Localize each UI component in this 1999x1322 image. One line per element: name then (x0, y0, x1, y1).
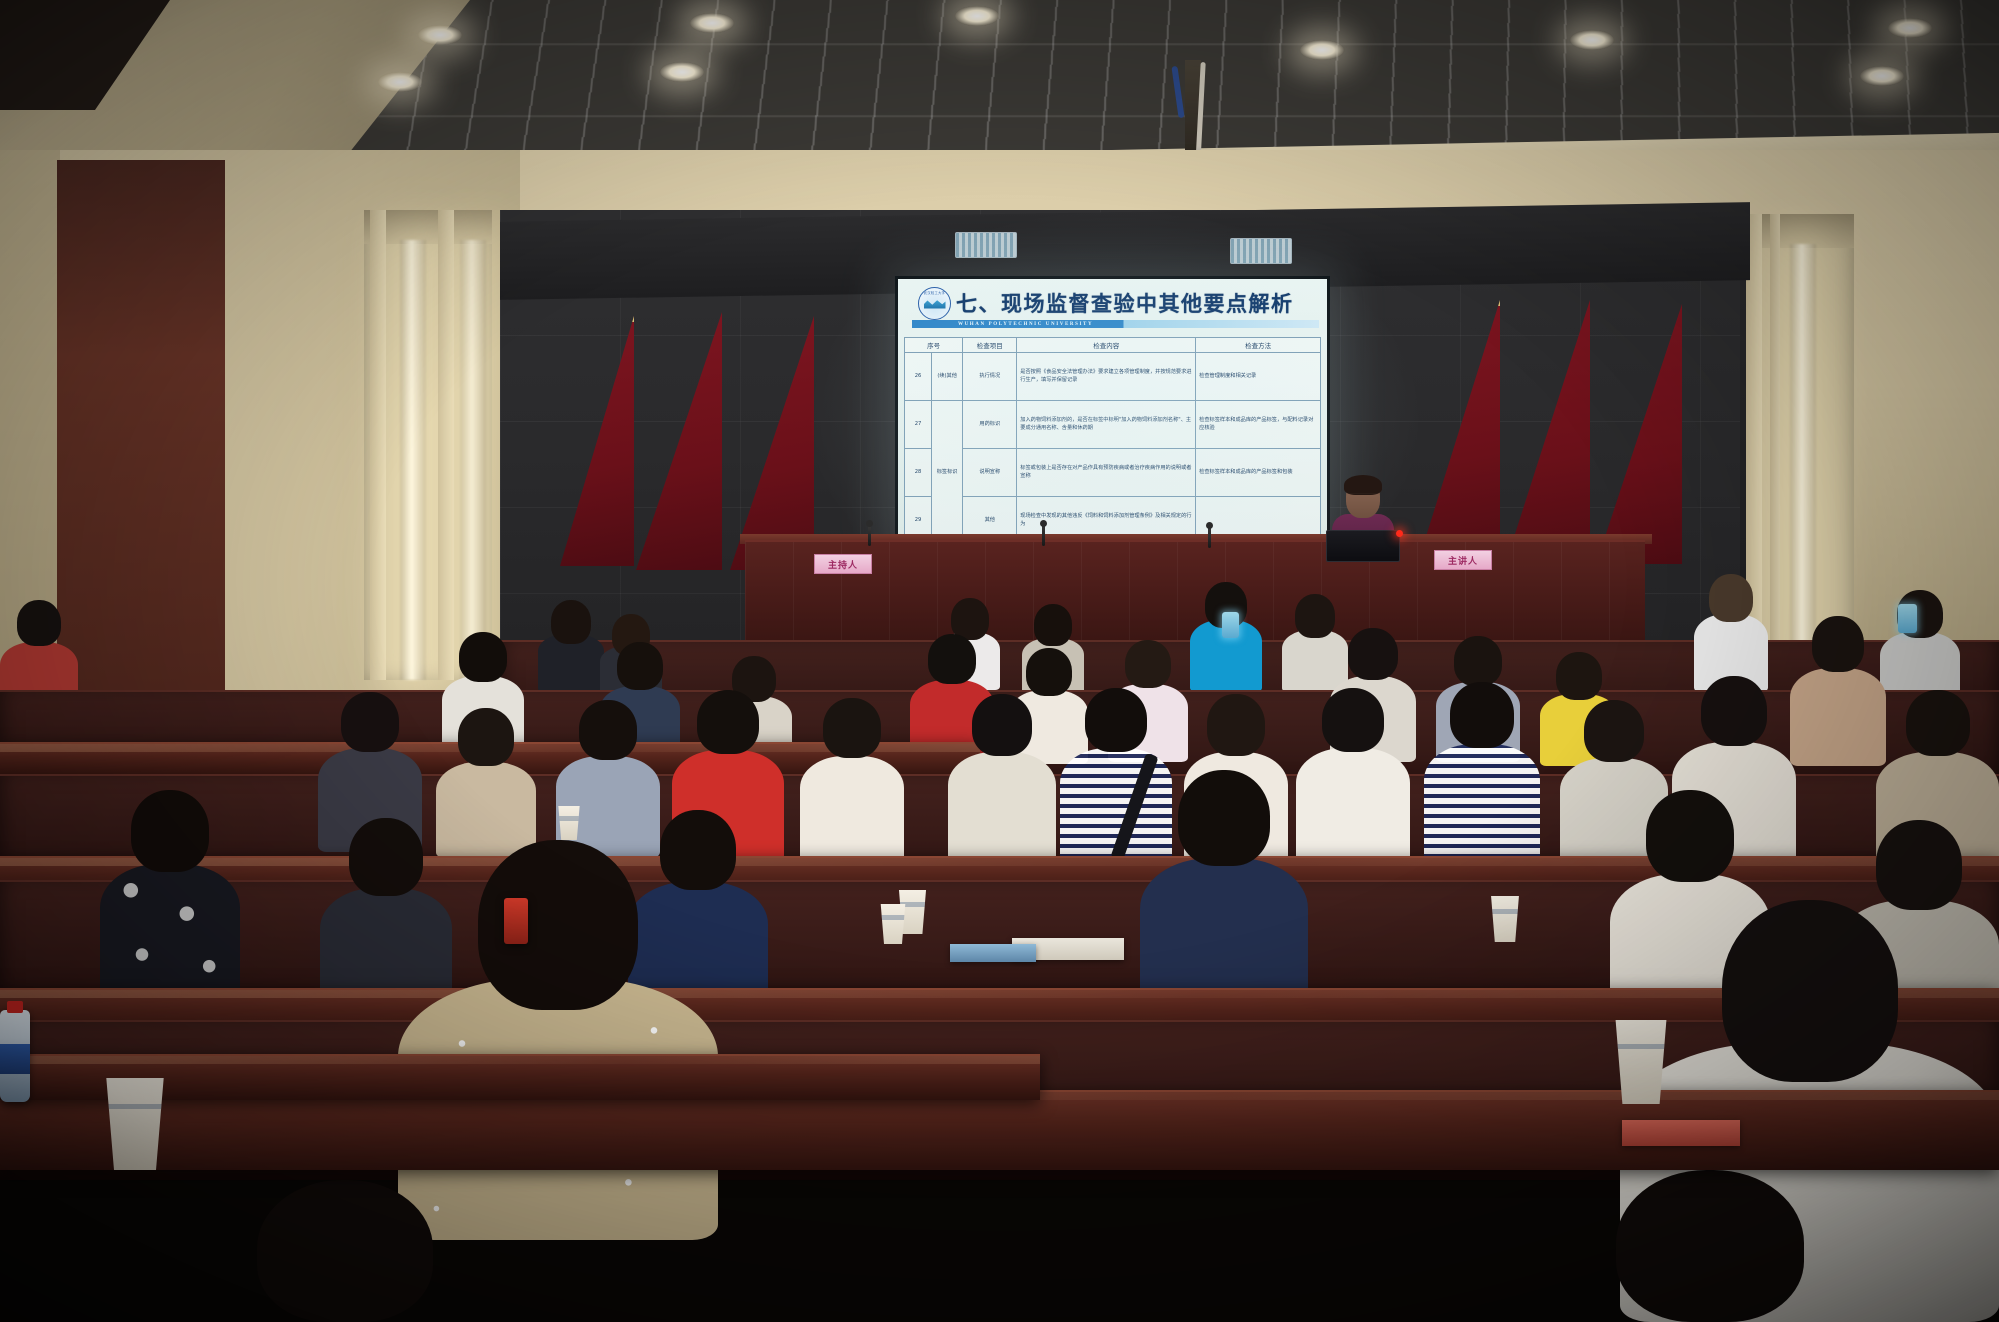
ceiling-downlight (1860, 66, 1904, 86)
audience-member (948, 694, 1056, 862)
smartphone (1898, 604, 1917, 633)
person-head (459, 632, 507, 682)
wall-alcove-left (364, 210, 492, 680)
ceiling-downlight (955, 6, 999, 26)
audience-member (100, 790, 240, 1010)
cell-item: 用药标识 (963, 401, 1017, 449)
inspection-table: 序号 检查项目 检查内容 检查方法 26 (续)其他 执行情况 是否按照《食品安… (904, 337, 1321, 545)
ceiling-downlight (378, 72, 422, 92)
bottle-cap (7, 1001, 23, 1013)
alcove-light-strip (460, 240, 486, 680)
logo-ring-text: 武汉轻工大学 (919, 290, 950, 295)
th-no: 序号 (905, 338, 963, 353)
cell-group: 标签标识 (932, 401, 963, 545)
alcove-rib (370, 210, 386, 680)
smartphone (1222, 612, 1239, 638)
presentation-slide: 武汉轻工大学 七、现场监督查验中其他要点解析 WUHAN POLYTECHNIC… (898, 279, 1327, 550)
cell-item: 说明宣称 (963, 449, 1017, 497)
water-bottle-foreground (0, 1010, 30, 1102)
person-head (1295, 594, 1335, 638)
cell-no: 27 (905, 401, 932, 449)
audience-member (210, 1180, 480, 1322)
person-head (257, 1180, 433, 1322)
microphone (1208, 526, 1211, 548)
audience-member (1424, 682, 1540, 864)
person-head (697, 690, 759, 754)
table-row: 28 说明宣称 标签或包装上是否存在对产品作具有预防疾病或者治疗疾病作用的说明或… (905, 449, 1321, 497)
slide-title: 七、现场监督查验中其他要点解析 (956, 288, 1317, 318)
person-head (1709, 574, 1753, 622)
person-head (341, 692, 399, 752)
person-head (458, 708, 514, 766)
person-head (1701, 676, 1767, 746)
microphone (868, 524, 871, 546)
person-head (579, 700, 637, 760)
ceiling-downlight (1300, 40, 1344, 60)
person-head (1646, 790, 1734, 882)
bottle-label (0, 1044, 30, 1074)
conference-hall-photo: 武汉轻工大学 七、现场监督查验中其他要点解析 WUHAN POLYTECHNIC… (0, 0, 1999, 1322)
placard-host: 主持人 (814, 554, 872, 574)
person-head (972, 694, 1032, 756)
person-head (1616, 1170, 1804, 1322)
cell-no: 26 (905, 353, 932, 401)
audience-member (800, 698, 904, 862)
cell-content: 标签或包装上是否存在对产品作具有预防疾病或者治疗疾病作用的说明或者宣称 (1017, 449, 1196, 497)
person-head (1584, 700, 1644, 762)
equipment-indicator-light (1396, 530, 1403, 537)
person-head (1812, 616, 1864, 672)
desk-sheen (0, 1056, 1040, 1064)
alcove-light-strip (400, 240, 426, 680)
person-head (1906, 690, 1970, 756)
wall-panel-dark-left (57, 160, 225, 720)
person-head (1722, 900, 1898, 1082)
ceiling-downlight (1888, 18, 1932, 38)
alcove-rib (1770, 214, 1780, 684)
paper-stack (1622, 1120, 1740, 1146)
person-head (617, 642, 663, 690)
audience-member (538, 600, 604, 692)
ceiling-downlight (690, 13, 734, 33)
ceiling-downlight (1570, 30, 1614, 50)
audience-member (1296, 688, 1410, 864)
cell-content: 是否按照《食品安全法管理办法》要求建立各项管理制度，并按规范要求进行生产，填写并… (1017, 353, 1196, 401)
ceiling-downlight (660, 62, 704, 82)
audience-member (1560, 1170, 1860, 1322)
person-head (131, 790, 209, 872)
microphone (1042, 524, 1045, 546)
person-head (17, 600, 61, 646)
person-head (823, 698, 881, 758)
slide-title-rule: WUHAN POLYTECHNIC UNIVERSITY (912, 320, 1319, 328)
person-head (551, 600, 591, 644)
cell-no: 28 (905, 449, 932, 497)
soda-can (504, 898, 528, 944)
logo-wave-mark (924, 299, 946, 309)
person-head (1454, 636, 1502, 686)
table-header-row: 序号 检查项目 检查内容 检查方法 (905, 338, 1321, 353)
table-body: 26 (续)其他 执行情况 是否按照《食品安全法管理办法》要求建立各项管理制度，… (905, 353, 1321, 545)
person-head (1348, 628, 1398, 680)
cell-method: 检查标签样本和成品库的产品标签和包装 (1196, 449, 1321, 497)
person-head (1450, 682, 1514, 748)
person-torso (800, 756, 904, 862)
cell-method: 检查管理制度和相关记录 (1196, 353, 1321, 401)
slide-footer-text: WUHAN POLYTECHNIC UNIVERSITY (958, 322, 1093, 327)
person-head (1178, 770, 1270, 866)
slide-header: 武汉轻工大学 七、现场监督查验中其他要点解析 WUHAN POLYTECHNIC… (904, 284, 1321, 330)
cell-content: 加入药物饲料添加剂的，是否在标签中标明"加入药物饲料添加剂名称"、主要成分通用名… (1017, 401, 1196, 449)
person-head (1207, 694, 1265, 756)
person-head (928, 634, 976, 684)
audience-member (1790, 616, 1886, 766)
speaker-glasses (1349, 493, 1377, 498)
paper-stack (950, 944, 1036, 962)
person-torso (948, 752, 1056, 862)
th-method: 检查方法 (1196, 338, 1321, 353)
table-head: 序号 检查项目 检查内容 检查方法 (905, 338, 1321, 353)
th-content: 检查内容 (1017, 338, 1196, 353)
alcove-rib (438, 210, 454, 680)
air-vent (955, 232, 1017, 258)
cell-method: 检查标签样本和成品库的产品标签，与配料记录对应核验 (1196, 401, 1321, 449)
air-vent (1230, 238, 1292, 264)
person-head (1322, 688, 1384, 752)
cell-item: 执行情况 (963, 353, 1017, 401)
person-torso (1790, 668, 1886, 766)
ceiling-downlight (418, 25, 462, 45)
placard-speaker: 主讲人 (1434, 550, 1492, 570)
person-head (1125, 640, 1171, 688)
th-item: 检查项目 (963, 338, 1017, 353)
person-head (1556, 652, 1602, 700)
audience-member (1694, 574, 1768, 692)
university-logo-icon: 武汉轻工大学 (918, 287, 951, 320)
person-head (478, 840, 638, 1010)
table-row: 26 (续)其他 执行情况 是否按照《食品安全法管理办法》要求建立各项管理制度，… (905, 353, 1321, 401)
person-torso (1296, 748, 1410, 864)
projection-screen: 武汉轻工大学 七、现场监督查验中其他要点解析 WUHAN POLYTECHNIC… (895, 276, 1330, 553)
person-head (1034, 604, 1072, 646)
person-torso (1424, 744, 1540, 864)
cell-group: (续)其他 (932, 353, 963, 401)
table-row: 27 标签标识 用药标识 加入药物饲料添加剂的，是否在标签中标明"加入药物饲料添… (905, 401, 1321, 449)
person-head (1085, 688, 1147, 752)
presenter-laptop (1326, 530, 1400, 562)
speaker-hair (1344, 475, 1382, 495)
person-head (1876, 820, 1962, 910)
